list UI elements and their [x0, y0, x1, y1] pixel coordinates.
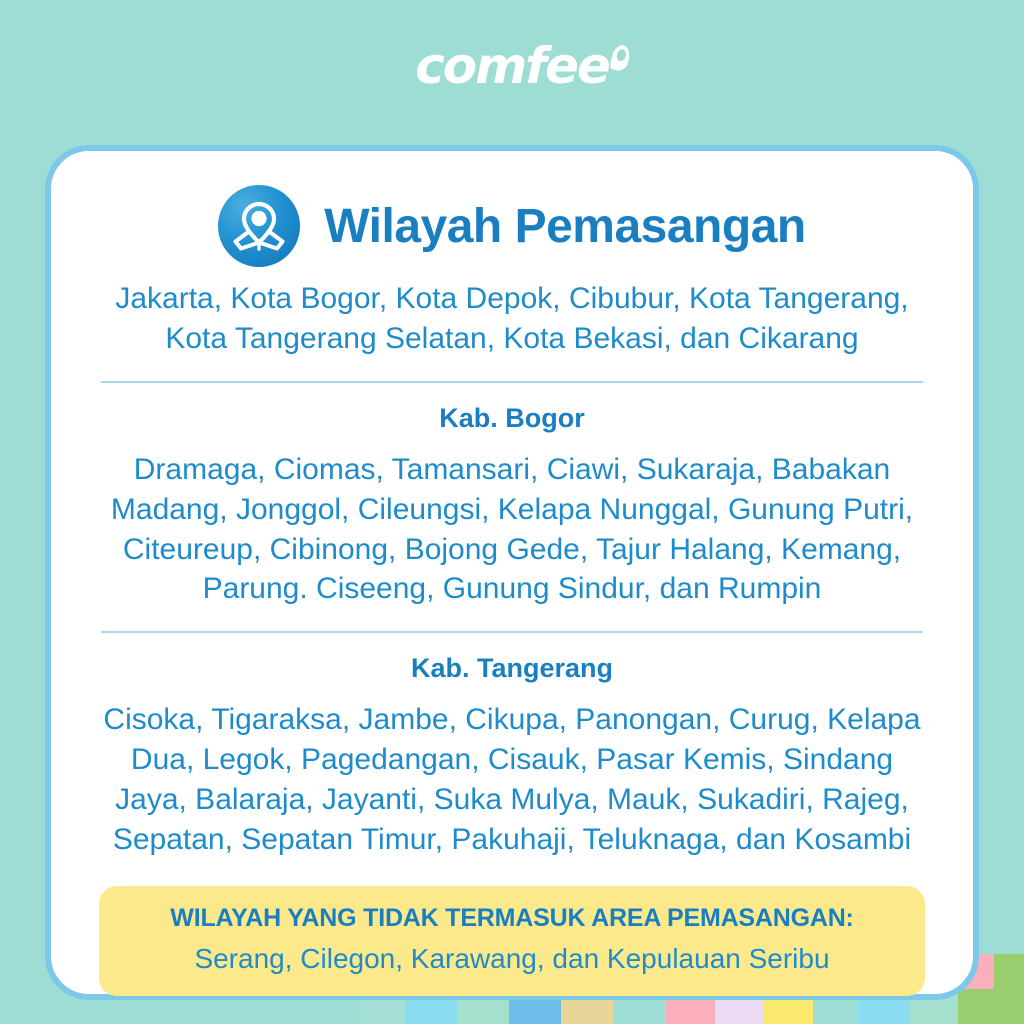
excluded-areas-title: WILAYAH YANG TIDAK TERMASUK AREA PEMASAN… [123, 904, 901, 933]
decor-strip-cell [994, 954, 1024, 989]
card-header: Wilayah Pemasangan [95, 185, 929, 267]
section-heading-tangerang: Kab. Tangerang [95, 653, 929, 684]
comma-accent-icon [609, 43, 633, 73]
map-pin-location-icon [218, 185, 300, 267]
excluded-areas-list: Serang, Cilegon, Karawang, dan Kepulauan… [123, 941, 901, 976]
decor-strip-cell [994, 989, 1024, 1024]
section-heading-bogor: Kab. Bogor [95, 403, 929, 434]
excluded-areas-box: WILAYAH YANG TIDAK TERMASUK AREA PEMASAN… [99, 886, 925, 996]
decor-strip-column [994, 954, 1024, 1024]
divider-2 [101, 631, 923, 633]
page-title: Wilayah Pemasangan [324, 199, 805, 254]
section-regions-bogor: Dramaga, Ciomas, Tamansari, Ciawi, Sukar… [95, 450, 929, 610]
brand-logo-text: comfee [415, 37, 609, 95]
divider-1 [101, 381, 923, 383]
decor-strip-cell [958, 989, 994, 1024]
brand-logo: comfee [415, 41, 609, 91]
section-regions-tangerang: Cisoka, Tigaraksa, Jambe, Cikupa, Panong… [95, 700, 929, 860]
brand-logo-area: comfee [0, 0, 1024, 132]
intro-regions-text: Jakarta, Kota Bogor, Kota Depok, Cibubur… [95, 279, 929, 359]
info-card: Wilayah Pemasangan Jakarta, Kota Bogor, … [45, 145, 979, 1000]
